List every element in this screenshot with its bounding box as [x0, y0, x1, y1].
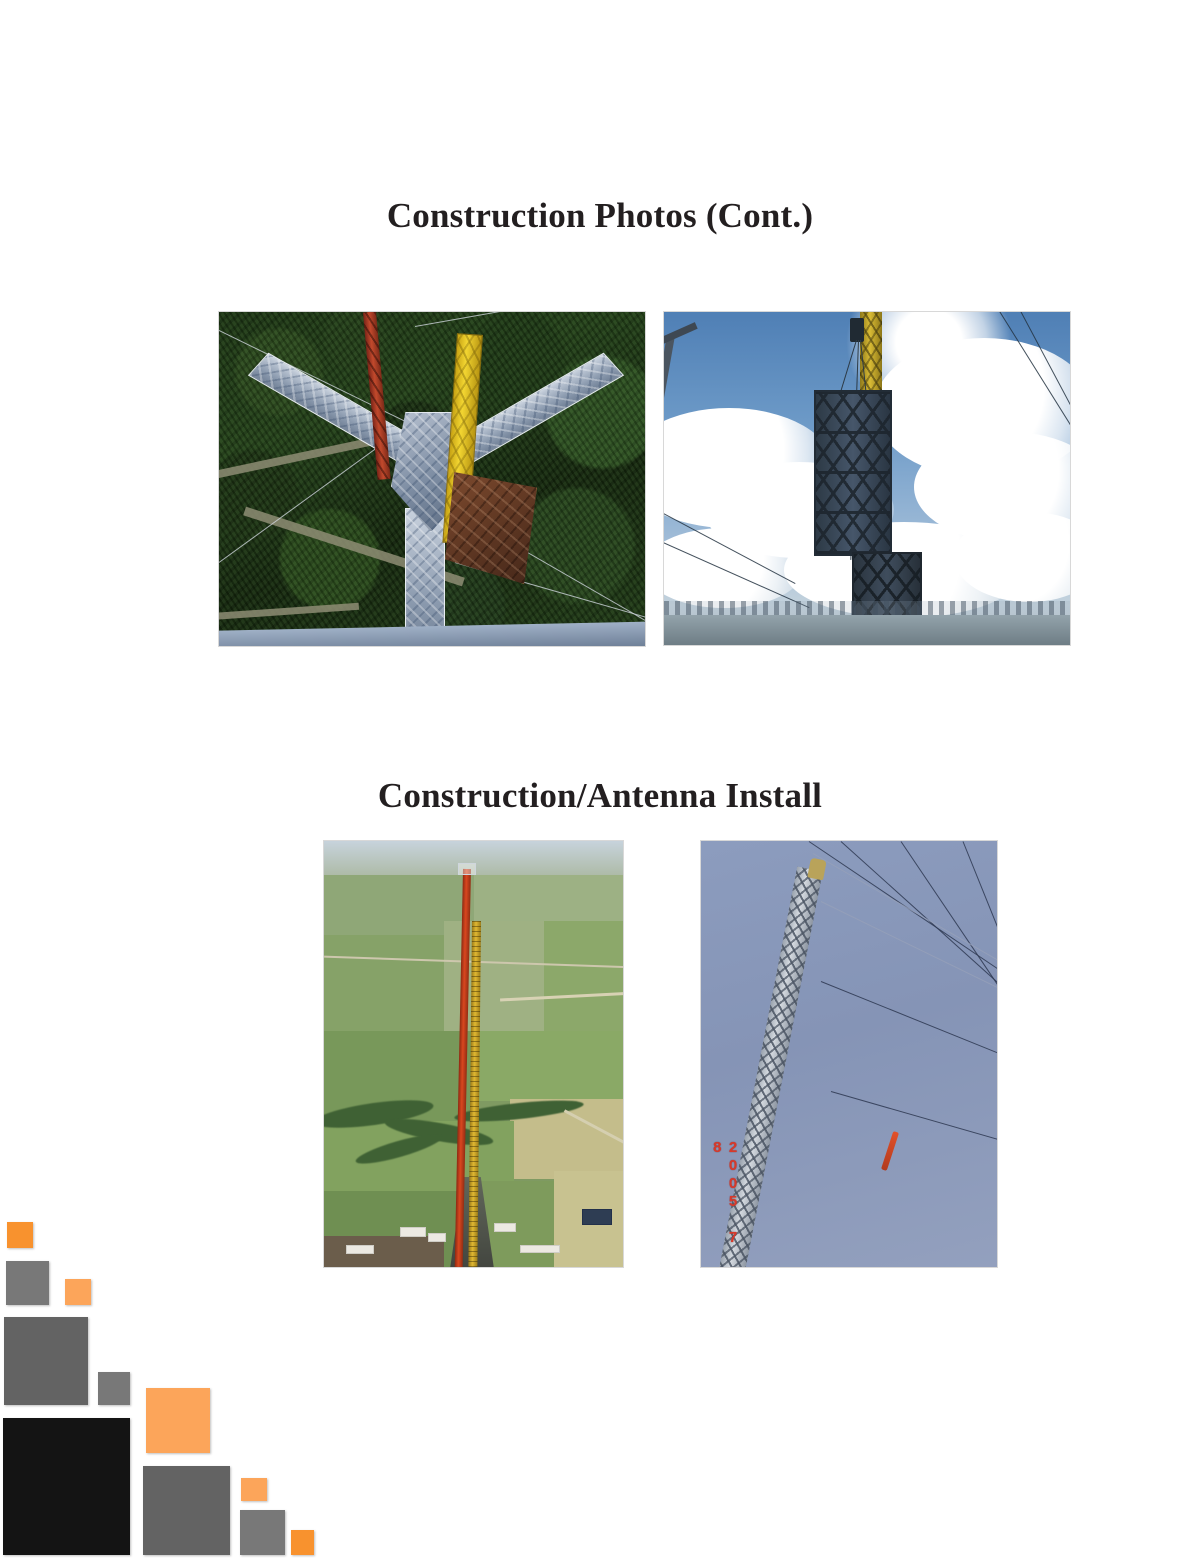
decor-square-orange-4 — [241, 1478, 267, 1501]
crop-field — [324, 935, 444, 1031]
photo-mast-bluesky: 2005 7 8 — [700, 840, 998, 1268]
decor-square-orange-1 — [7, 1222, 33, 1248]
decor-square-orange-5 — [291, 1530, 314, 1555]
decor-square-gray-4 — [143, 1466, 230, 1555]
slide-canvas: Construction Photos (Cont.) Construction… — [0, 0, 1200, 1558]
site-building — [494, 1223, 516, 1232]
crane-hook-block — [850, 318, 864, 342]
tower-section-hoisted — [814, 390, 892, 556]
site-building — [520, 1245, 560, 1253]
section-title: Construction/Antenna Install — [0, 776, 1200, 816]
decor-square-gray-3 — [98, 1372, 130, 1405]
decor-square-gray-1 — [6, 1261, 49, 1305]
crop-field — [324, 1236, 444, 1268]
farm-barn — [582, 1209, 612, 1225]
decor-square-black-1 — [3, 1418, 130, 1555]
photo-tower-aerial-forest — [218, 311, 646, 647]
site-building — [428, 1233, 446, 1242]
site-building — [400, 1227, 426, 1237]
photo-tower-hoist-sky — [663, 311, 1071, 646]
decor-square-gray-2 — [4, 1317, 88, 1405]
ground-haze — [664, 615, 1070, 645]
page-title: Construction Photos (Cont.) — [0, 196, 1200, 236]
photo-mast-farmland — [323, 840, 624, 1268]
mast-top-beacon — [458, 863, 476, 875]
crop-field — [474, 1031, 624, 1101]
camera-date-stamp: 2005 7 8 — [709, 1139, 741, 1267]
decor-square-gray-5 — [240, 1510, 285, 1555]
site-building — [346, 1245, 374, 1254]
decor-square-orange-2 — [65, 1279, 91, 1305]
crop-field — [474, 875, 624, 921]
decor-square-orange-3 — [146, 1388, 210, 1453]
